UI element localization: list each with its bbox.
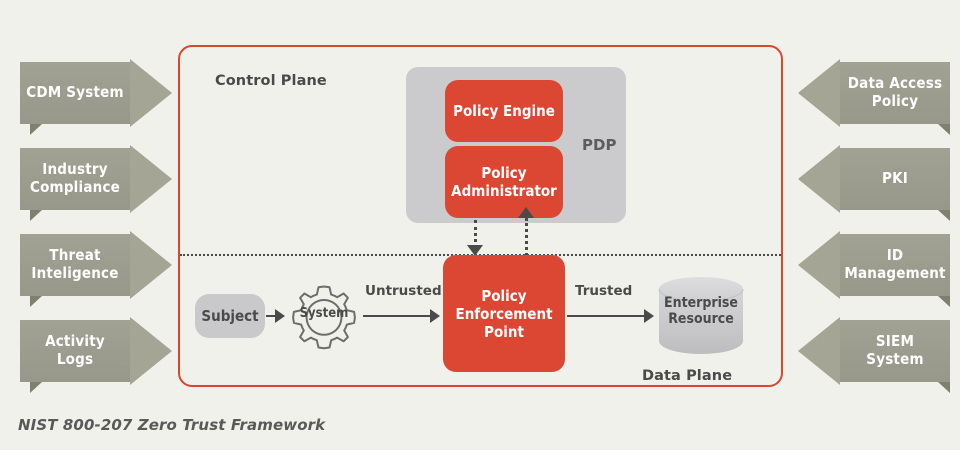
- right-block-label: Data Access Policy: [840, 62, 950, 124]
- subject-node[interactable]: Subject: [195, 294, 265, 338]
- left-block-label: Industry Compliance: [20, 148, 130, 210]
- right-block-label: PKI: [840, 148, 950, 210]
- arrow-head-right-icon: [130, 59, 172, 127]
- pdp-label: PDP: [582, 136, 616, 154]
- policy-admin-to-pep-line: [474, 220, 477, 248]
- fold-shadow-icon: [938, 296, 950, 307]
- arrow-right-icon: [644, 309, 654, 323]
- arrow-right-icon: [430, 309, 440, 323]
- control-plane-label: Control Plane: [215, 73, 327, 89]
- fold-shadow-icon: [30, 124, 42, 135]
- arrow-head-right-icon: [130, 317, 172, 385]
- fold-shadow-icon: [938, 210, 950, 221]
- right-block-label: ID Management: [840, 234, 950, 296]
- untrusted-label: Untrusted: [365, 283, 442, 299]
- diagram-canvas: CDM System Industry Compliance Threat In…: [0, 0, 960, 450]
- left-block-label: CDM System: [20, 62, 130, 124]
- arrow-right-icon: [275, 309, 285, 323]
- arrow-head-left-icon: [798, 317, 840, 385]
- fold-shadow-icon: [938, 382, 950, 393]
- arrow-head-left-icon: [798, 231, 840, 299]
- trusted-label: Trusted: [575, 283, 632, 299]
- fold-shadow-icon: [938, 124, 950, 135]
- fold-shadow-icon: [30, 296, 42, 307]
- pep-to-resource-line: [567, 315, 645, 317]
- enterprise-resource-label: Enterprise Resource: [657, 295, 745, 327]
- fold-shadow-icon: [30, 210, 42, 221]
- pep-to-policy-admin-line: [525, 218, 528, 256]
- system-label: System: [288, 306, 360, 321]
- arrow-head-left-icon: [798, 145, 840, 213]
- left-block-label: Threat Inteligence: [20, 234, 130, 296]
- right-block-label: SIEM System: [840, 320, 950, 382]
- arrow-up-icon: [518, 207, 534, 218]
- data-plane-label: Data Plane: [642, 368, 732, 384]
- policy-engine-node[interactable]: Policy Engine: [445, 80, 563, 142]
- policy-enforcement-point-node[interactable]: Policy Enforcement Point: [443, 255, 565, 372]
- fold-shadow-icon: [30, 382, 42, 393]
- figure-caption: NIST 800-207 Zero Trust Framework: [18, 416, 325, 434]
- arrow-head-left-icon: [798, 59, 840, 127]
- policy-administrator-node[interactable]: Policy Administrator: [445, 146, 563, 218]
- arrow-head-right-icon: [130, 145, 172, 213]
- left-block-label: Activity Logs: [20, 320, 130, 382]
- system-to-pep-line: [363, 315, 431, 317]
- arrow-head-right-icon: [130, 231, 172, 299]
